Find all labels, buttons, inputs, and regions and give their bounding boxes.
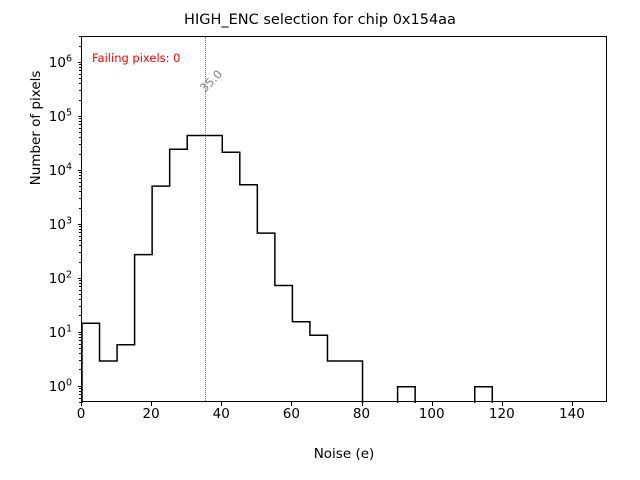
x-tick-label: 80: [353, 406, 370, 422]
y-minor-tick-mark: [79, 252, 81, 253]
x-axis-label: Noise (e): [81, 446, 607, 462]
y-minor-tick-mark: [79, 124, 81, 125]
plot-axes: Failing pixels: 0 35.0: [81, 36, 607, 402]
y-minor-tick-mark: [79, 348, 81, 349]
y-minor-tick-mark: [79, 154, 81, 155]
y-minor-tick-mark: [79, 70, 81, 71]
figure: HIGH_ENC selection for chip 0x154aa Fail…: [0, 0, 640, 480]
y-minor-tick-mark: [79, 245, 81, 246]
histogram-step-line: [82, 37, 608, 403]
x-tick-mark: [572, 402, 573, 406]
y-minor-tick-mark: [79, 294, 81, 295]
y-minor-tick-mark: [79, 78, 81, 79]
y-minor-tick-mark: [79, 398, 81, 399]
x-tick-mark: [432, 402, 433, 406]
y-minor-tick-mark: [79, 191, 81, 192]
x-tick-label: 0: [77, 406, 86, 422]
y-minor-tick-mark: [79, 344, 81, 345]
x-tick-label: 20: [143, 406, 160, 422]
y-minor-tick-mark: [79, 240, 81, 241]
y-minor-tick-mark: [79, 137, 81, 138]
x-tick-mark: [81, 402, 82, 406]
y-minor-tick-mark: [79, 64, 81, 65]
y-minor-tick-mark: [79, 132, 81, 133]
y-minor-tick-mark: [79, 290, 81, 291]
y-minor-tick-mark: [79, 299, 81, 300]
y-minor-tick-mark: [79, 337, 81, 338]
y-tick-label: 100: [49, 377, 72, 395]
y-minor-tick-mark: [79, 236, 81, 237]
y-minor-tick-mark: [79, 178, 81, 179]
y-tick-mark: [78, 386, 82, 387]
x-tick-mark: [502, 402, 503, 406]
y-tick-label: 104: [49, 161, 72, 179]
x-tick-mark: [291, 402, 292, 406]
x-tick-label: 40: [213, 406, 230, 422]
y-minor-tick-mark: [79, 280, 81, 281]
y-tick-label: 101: [49, 323, 72, 341]
y-minor-tick-mark: [79, 334, 81, 335]
y-minor-tick-mark: [79, 262, 81, 263]
x-tick-label: 60: [283, 406, 300, 422]
y-tick-mark: [78, 278, 82, 279]
y-minor-tick-mark: [79, 391, 81, 392]
x-tick-mark: [221, 402, 222, 406]
y-minor-tick-mark: [79, 186, 81, 187]
y-tick-mark: [78, 116, 82, 117]
y-axis-label: Number of pixels: [28, 0, 44, 268]
y-minor-tick-mark: [79, 67, 81, 68]
y-minor-tick-mark: [79, 144, 81, 145]
y-minor-tick-mark: [79, 175, 81, 176]
y-minor-tick-mark: [79, 83, 81, 84]
y-tick-mark: [78, 170, 82, 171]
x-tick-label: 140: [559, 406, 585, 422]
y-minor-tick-mark: [79, 388, 81, 389]
y-minor-tick-mark: [79, 369, 81, 370]
y-minor-tick-mark: [79, 402, 81, 403]
x-tick-mark: [151, 402, 152, 406]
y-minor-tick-mark: [79, 121, 81, 122]
y-minor-tick-mark: [79, 306, 81, 307]
y-tick-mark: [78, 62, 82, 63]
y-minor-tick-mark: [79, 232, 81, 233]
x-tick-label: 100: [419, 406, 445, 422]
y-tick-mark: [78, 332, 82, 333]
y-minor-tick-mark: [79, 340, 81, 341]
y-minor-tick-mark: [79, 118, 81, 119]
x-tick-label: 120: [489, 406, 515, 422]
y-tick-label: 103: [49, 215, 72, 233]
y-minor-tick-mark: [79, 182, 81, 183]
y-minor-tick-mark: [79, 172, 81, 173]
y-minor-tick-mark: [79, 360, 81, 361]
y-minor-tick-mark: [79, 283, 81, 284]
y-minor-tick-mark: [79, 208, 81, 209]
y-tick-label: 105: [49, 107, 72, 125]
y-minor-tick-mark: [79, 198, 81, 199]
y-minor-tick-mark: [79, 229, 81, 230]
y-minor-tick-mark: [79, 36, 81, 37]
y-minor-tick-mark: [79, 315, 81, 316]
y-minor-tick-mark: [79, 286, 81, 287]
y-minor-tick-mark: [79, 394, 81, 395]
y-minor-tick-mark: [79, 46, 81, 47]
chart-title: HIGH_ENC selection for chip 0x154aa: [0, 12, 640, 28]
y-minor-tick-mark: [79, 128, 81, 129]
y-minor-tick-mark: [79, 100, 81, 101]
y-tick-mark: [78, 224, 82, 225]
y-tick-label: 102: [49, 269, 72, 287]
y-tick-label: 106: [49, 53, 72, 71]
y-minor-tick-mark: [79, 353, 81, 354]
y-minor-tick-mark: [79, 90, 81, 91]
x-tick-mark: [362, 402, 363, 406]
histogram-path: [82, 135, 492, 403]
y-minor-tick-mark: [79, 74, 81, 75]
y-minor-tick-mark: [79, 226, 81, 227]
